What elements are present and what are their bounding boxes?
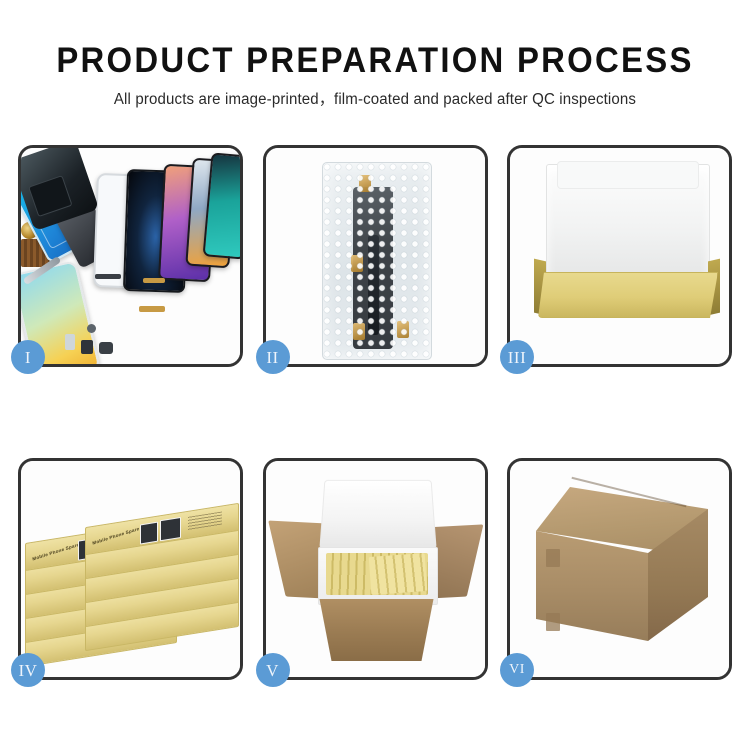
- sim-tray-part: [65, 334, 75, 350]
- box-stack: Mobile Phone Spare Parts Mobile Phone Sp…: [25, 479, 240, 669]
- carton-tape-lower: [546, 613, 560, 631]
- foam-liner-lid: [546, 164, 710, 278]
- box-screen-thumb: [160, 517, 181, 541]
- gold-connector-part: [143, 278, 165, 283]
- gold-flex-part: [139, 306, 165, 312]
- header: PRODUCT PREPARATION PROCESS All products…: [0, 0, 750, 110]
- step-card-2[interactable]: II: [263, 145, 488, 367]
- bubble-texture: [323, 163, 431, 359]
- bubble-wrap-bag: [322, 162, 432, 360]
- screw-part: [87, 324, 96, 333]
- step-badge-1: I: [11, 340, 45, 374]
- process-grid: I II: [18, 145, 732, 730]
- step-5-image: [266, 461, 485, 677]
- foam-box-lid: [319, 480, 436, 549]
- flex-cable-part: [95, 274, 121, 279]
- step-card-6[interactable]: VI: [507, 458, 732, 680]
- yellow-inner-boxes: [326, 553, 428, 595]
- carton-tape-upper: [546, 549, 560, 567]
- step-card-3[interactable]: III: [507, 145, 732, 367]
- step-4-image: Mobile Phone Spare Parts Mobile Phone Sp…: [21, 461, 240, 677]
- step-badge-6: VI: [500, 653, 534, 687]
- product-preparation-infographic: PRODUCT PREPARATION PROCESS All products…: [0, 0, 750, 750]
- page-title: PRODUCT PREPARATION PROCESS: [23, 41, 728, 81]
- step-badge-2: II: [256, 340, 290, 374]
- step-card-1[interactable]: I: [18, 145, 243, 367]
- step-2-image: [266, 148, 485, 364]
- step-badge-4: IV: [11, 653, 45, 687]
- page-subtitle: All products are image-printed，film-coat…: [11, 90, 739, 110]
- camera-part: [81, 340, 93, 354]
- step-card-4[interactable]: Mobile Phone Spare Parts Mobile Phone Sp…: [18, 458, 243, 680]
- step-3-image: [510, 148, 729, 364]
- carton-front-wall: [310, 599, 444, 661]
- step-1-image: [21, 148, 240, 364]
- step-6-image: [510, 461, 729, 677]
- step-badge-5: V: [256, 653, 290, 687]
- step-card-5[interactable]: V: [263, 458, 488, 680]
- yellow-box-front: [538, 272, 718, 318]
- box-screen-thumb: [140, 522, 158, 545]
- taptic-part: [99, 342, 113, 354]
- step-badge-3: III: [500, 340, 534, 374]
- box-spec-lines: [188, 511, 222, 530]
